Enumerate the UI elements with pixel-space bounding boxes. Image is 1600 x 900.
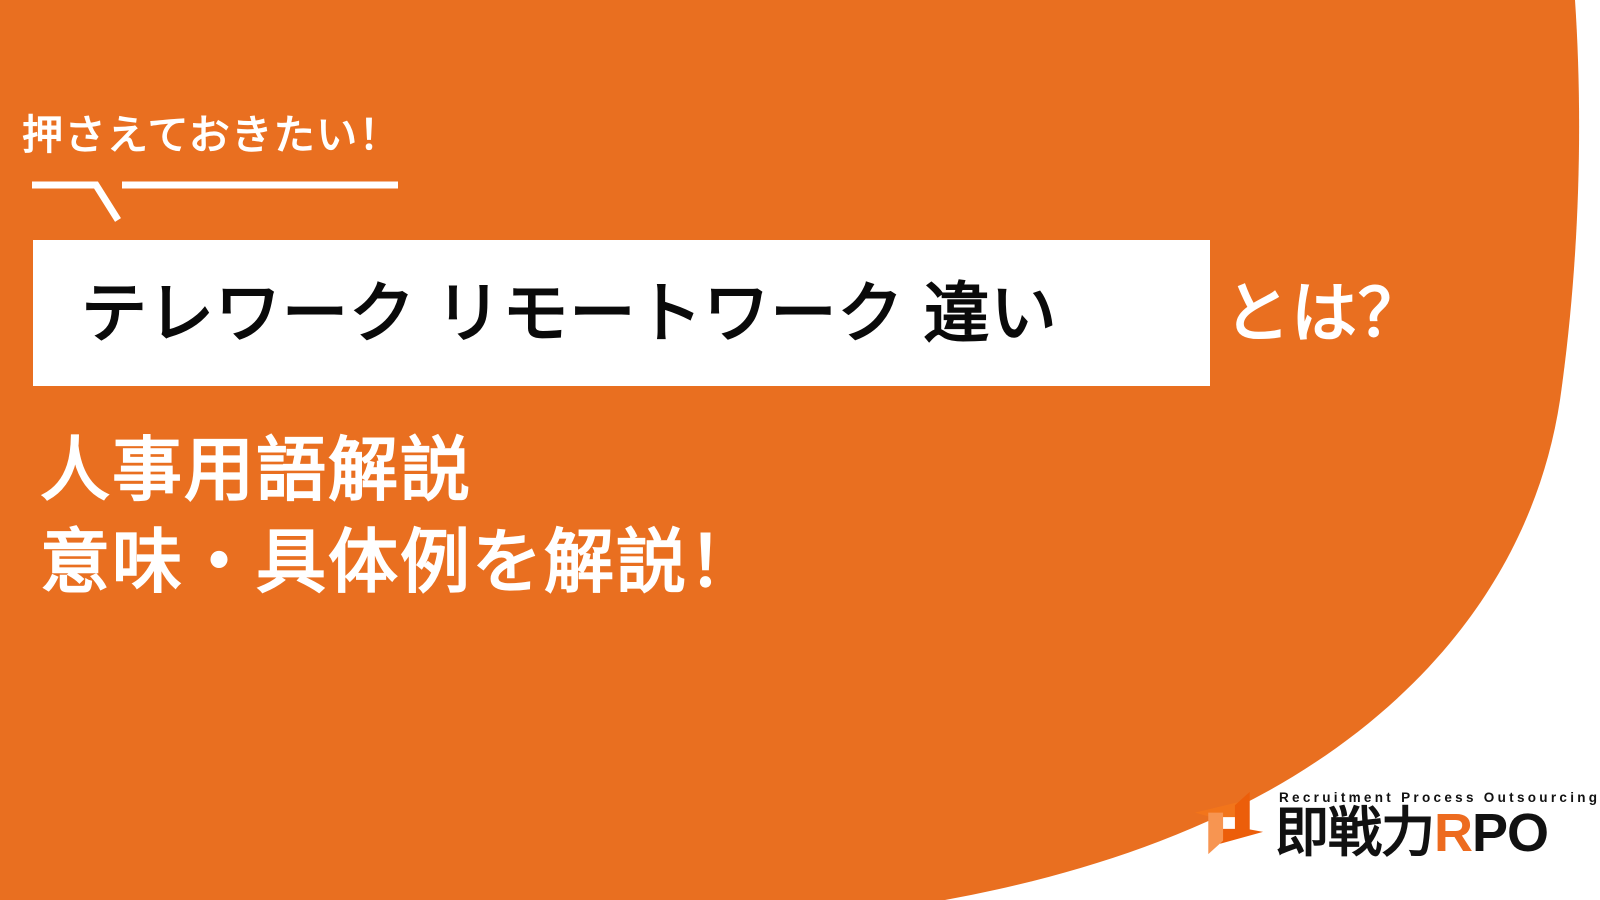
subtitle-block: 人事用語解説 意味・具体例を解説！ xyxy=(40,424,760,608)
underline-with-tail-icon xyxy=(30,176,400,224)
subtitle-line-2: 意味・具体例を解説！ xyxy=(40,516,760,608)
headline-suffix: とは？ xyxy=(1210,240,1425,386)
logo-text-stack: Recruitment Process Outsourcing 即戦力RPO xyxy=(1275,790,1600,860)
subtitle-line-1: 人事用語解説 xyxy=(40,424,760,516)
eyebrow-text: 押さえておきたい！ xyxy=(22,112,401,159)
headline-keyword: テレワーク リモートワーク 違い xyxy=(33,240,1210,386)
headline-row: テレワーク リモートワーク 違い とは？ xyxy=(0,240,1425,386)
brand-logo: Recruitment Process Outsourcing 即戦力RPO xyxy=(1192,786,1600,860)
logo-wordmark-jp: 即戦力 xyxy=(1275,803,1434,863)
logo-wordmark: 即戦力RPO xyxy=(1275,806,1600,860)
logo-wordmark-po: PO xyxy=(1472,803,1548,863)
logo-wordmark-r: R xyxy=(1434,803,1472,863)
banner-root: 押さえておきたい！ テレワーク リモートワーク 違い とは？ 人事用語解説 意味… xyxy=(0,0,1600,900)
pinwheel-square-logo-icon xyxy=(1192,786,1266,860)
